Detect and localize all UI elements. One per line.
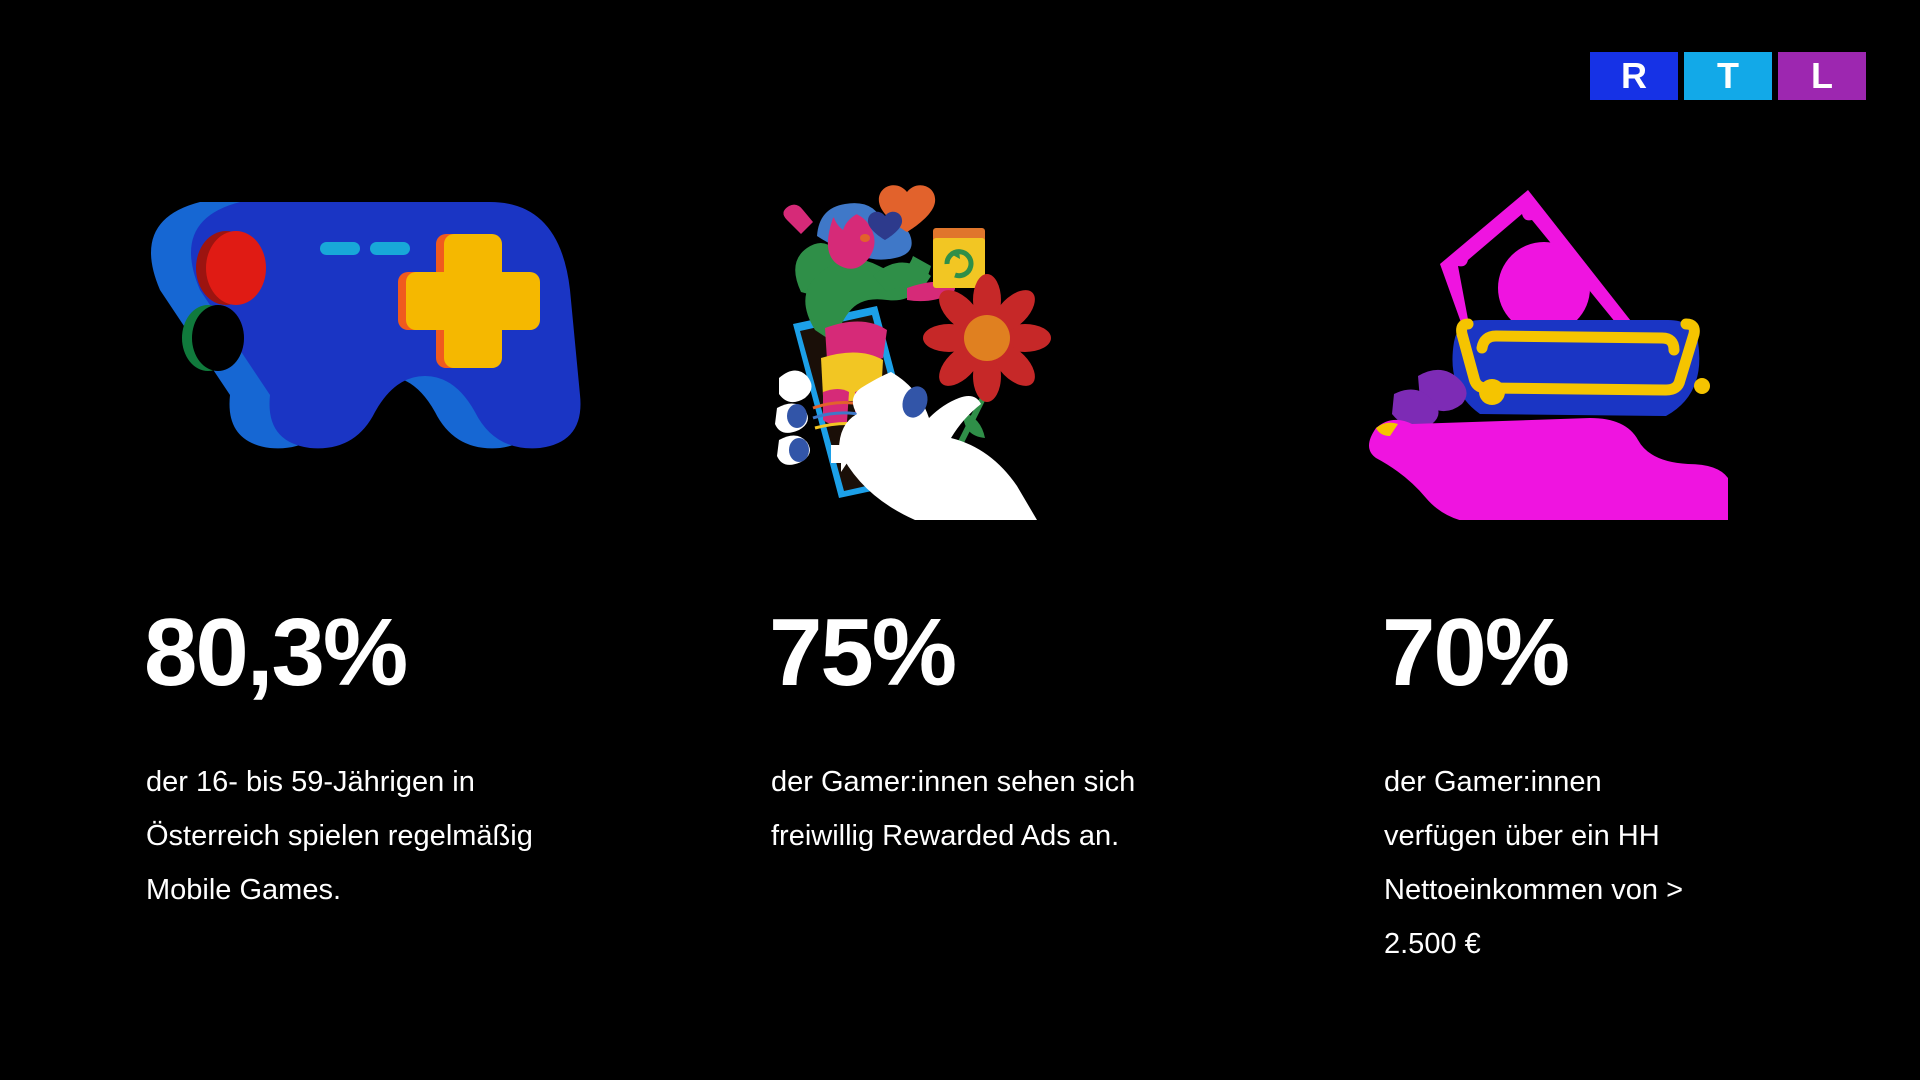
stat-value-rewarded-ads: 75% [769,605,955,701]
character-mouth [860,234,870,242]
fingernail-upper [787,404,807,428]
hand-palm [1369,418,1728,520]
hand-wallet-money-illustration [1368,180,1828,520]
hand-holding-phone [839,372,1037,520]
game-controller-illustration [130,180,590,520]
stats-columns: 80,3% der 16- bis 59-Jährigen in Österre… [0,0,1920,1080]
stat-column-household-income: 70% der Gamer:innen verfügen über ein HH… [1368,0,1920,1080]
stat-caption-household-income: der Gamer:innen verfügen über ein HH Net… [1384,755,1714,971]
character-leg-left [823,389,849,425]
wallet-clasp-knob [1694,378,1710,394]
fingernail-lower [789,438,809,462]
stat-caption-rewarded-ads: der Gamer:innen sehen sich freiwillig Re… [771,755,1201,863]
controller-button-red [206,231,266,305]
coin [1479,379,1505,405]
stat-column-rewarded-ads: 75% der Gamer:innen sehen sich freiwilli… [755,0,1315,1080]
controller-button-black [192,305,244,371]
stat-caption-mobile-games: der 16- bis 59-Jährigen in Österreich sp… [146,755,576,917]
stat-value-household-income: 70% [1382,605,1568,701]
hand-wallet-money-svg [1368,180,1828,520]
controller-dash-left [320,242,360,255]
stat-value-mobile-games: 80,3% [144,605,406,701]
phone-hand-character-illustration [755,180,1215,520]
game-controller-svg [130,180,590,520]
character-pointing-hand [783,205,813,234]
reward-card-body [933,238,985,288]
flower-center [964,315,1010,361]
phone-hand-character-svg [755,180,1215,520]
stat-column-mobile-games: 80,3% der 16- bis 59-Jährigen in Österre… [130,0,690,1080]
controller-dash-right [370,242,410,255]
